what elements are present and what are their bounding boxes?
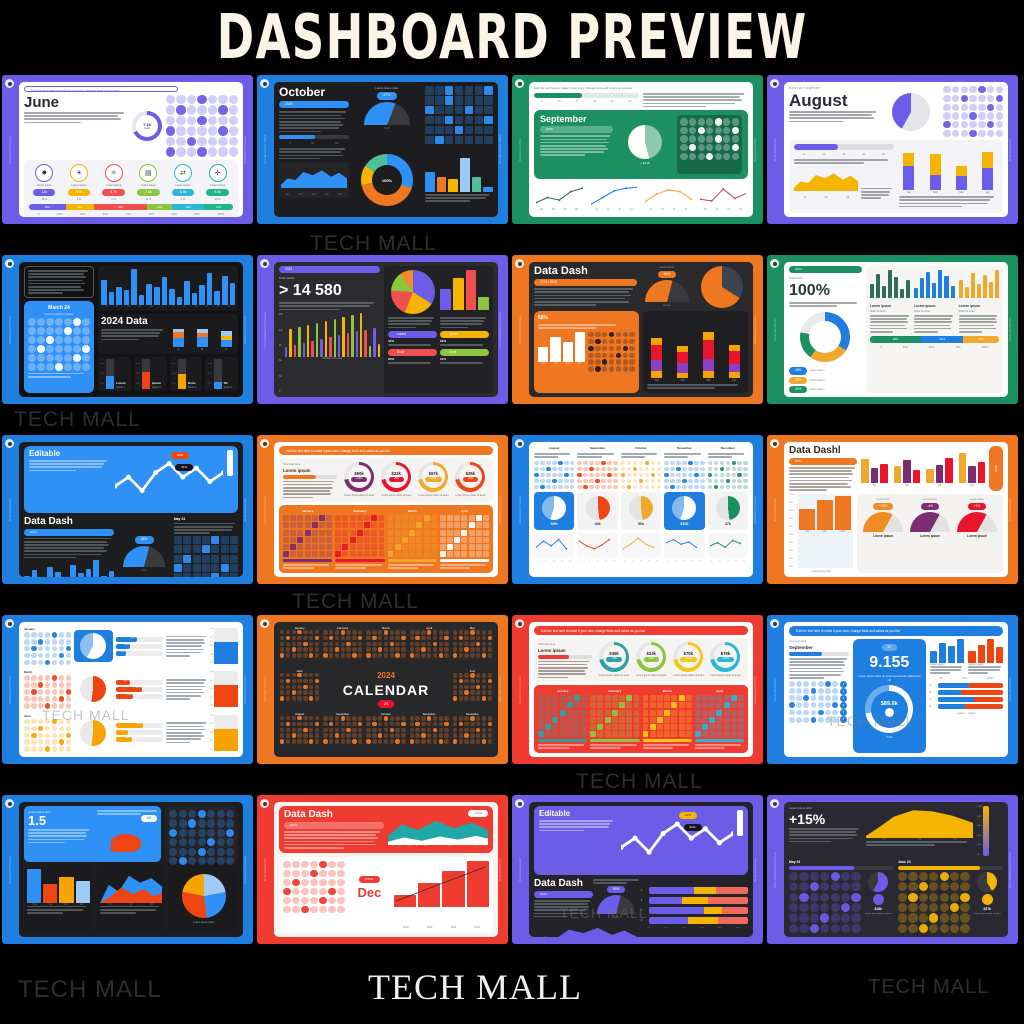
- calendar-day[interactable]: [558, 467, 563, 472]
- calendar-day[interactable]: [183, 573, 191, 577]
- calendar-day[interactable]: [352, 653, 357, 658]
- value-1-5-dark[interactable]: Dashboard PreviewDashboard PreviewLorem …: [2, 795, 253, 944]
- calendar-day[interactable]: [831, 893, 840, 902]
- calendar-day[interactable]: [689, 127, 696, 134]
- calendar-day[interactable]: [470, 733, 475, 738]
- calendar-day[interactable]: [166, 126, 175, 135]
- calendar-day[interactable]: [187, 147, 196, 156]
- calendar-day[interactable]: [440, 522, 446, 528]
- calendar-day[interactable]: [64, 345, 72, 353]
- calendar-day[interactable]: [431, 522, 437, 528]
- calendar-day[interactable]: [401, 636, 406, 641]
- calendar-day[interactable]: [309, 630, 313, 634]
- calendar-day[interactable]: [415, 739, 420, 744]
- calendar-day[interactable]: [680, 135, 687, 142]
- calendar-day[interactable]: [290, 530, 296, 536]
- calendar-day[interactable]: [342, 522, 348, 528]
- calendar-day[interactable]: [626, 731, 632, 737]
- calendar-day[interactable]: [37, 345, 45, 353]
- calendar-day[interactable]: [366, 647, 371, 652]
- calendar-day[interactable]: [590, 695, 596, 701]
- calendar-day[interactable]: [601, 479, 606, 484]
- calendar-day[interactable]: [292, 861, 300, 869]
- calendar-day[interactable]: [545, 731, 551, 737]
- calendar-day[interactable]: [45, 719, 51, 725]
- calendar-day[interactable]: [623, 353, 629, 359]
- calendar-day[interactable]: [789, 717, 795, 723]
- calendar-day[interactable]: [297, 515, 303, 521]
- calendar-day[interactable]: [401, 722, 406, 727]
- calendar-day[interactable]: [796, 702, 802, 708]
- calendar-day[interactable]: [726, 479, 731, 484]
- calendar-day[interactable]: [301, 861, 309, 869]
- calendar-day[interactable]: [453, 733, 458, 738]
- calendar-day[interactable]: [700, 479, 705, 484]
- calendar-day[interactable]: [731, 695, 737, 701]
- calendar-day[interactable]: [961, 95, 968, 102]
- calendar-day[interactable]: [427, 642, 432, 647]
- calendar-day[interactable]: [482, 642, 487, 647]
- calendar-day[interactable]: [73, 318, 81, 326]
- calendar-day[interactable]: [978, 86, 985, 93]
- calendar-day[interactable]: [688, 467, 693, 472]
- calendar-day[interactable]: [366, 739, 371, 744]
- calendar-day[interactable]: [378, 653, 383, 658]
- calendar-day[interactable]: [602, 339, 608, 345]
- calendar-day[interactable]: [796, 717, 802, 723]
- calendar-day[interactable]: [303, 673, 307, 677]
- calendar-day[interactable]: [686, 731, 692, 737]
- calendar-day[interactable]: [633, 473, 638, 478]
- calendar-day[interactable]: [346, 739, 351, 744]
- data-dash-orange[interactable]: Dashboard PreviewDashboard PreviewData D…: [512, 255, 763, 404]
- calendar-day[interactable]: [724, 724, 730, 730]
- calendar-day[interactable]: [226, 810, 234, 818]
- calendar-day[interactable]: [372, 728, 377, 733]
- calendar-grid[interactable]: [453, 673, 492, 701]
- calendar-day[interactable]: [280, 642, 284, 646]
- calendar-day[interactable]: [464, 722, 469, 727]
- calendar-day[interactable]: [395, 522, 401, 528]
- calendar-day[interactable]: [607, 461, 612, 466]
- calendar-day[interactable]: [825, 710, 831, 716]
- calendar-day[interactable]: [315, 636, 319, 640]
- calendar-day[interactable]: [680, 118, 687, 125]
- calendar-day[interactable]: [208, 126, 217, 135]
- calendar-day[interactable]: [476, 739, 481, 744]
- calendar-day[interactable]: [732, 144, 739, 151]
- calendar-day[interactable]: [390, 728, 395, 733]
- calendar-day[interactable]: [435, 126, 444, 135]
- calendar-day[interactable]: [447, 522, 453, 528]
- calendar-day[interactable]: [410, 642, 415, 647]
- calendar-day[interactable]: [388, 551, 394, 557]
- calendar-day[interactable]: [444, 636, 449, 641]
- calendar-day[interactable]: [440, 537, 446, 543]
- badge-chip[interactable]: 24: [378, 700, 394, 708]
- calendar-day[interactable]: [831, 913, 840, 922]
- calendar-day[interactable]: [297, 716, 301, 720]
- compare-column[interactable]: November$10012345: [664, 446, 704, 573]
- calendar-day[interactable]: [453, 728, 458, 733]
- calendar-day[interactable]: [908, 893, 917, 902]
- calendar-day[interactable]: [470, 685, 475, 690]
- calendar-day[interactable]: [602, 366, 608, 372]
- calendar-day[interactable]: [803, 702, 809, 708]
- calendar-day[interactable]: [476, 653, 481, 658]
- calendar-day[interactable]: [229, 116, 238, 125]
- calendar-day[interactable]: [24, 675, 30, 681]
- badge-chip[interactable]: 32%: [789, 377, 807, 384]
- calendar-day[interactable]: [686, 717, 692, 723]
- calendar-day[interactable]: [664, 479, 669, 484]
- badge-chip[interactable]: 92%: [171, 452, 189, 459]
- calendar-day[interactable]: [45, 739, 51, 745]
- calendar-day[interactable]: [305, 551, 311, 557]
- calendar-day[interactable]: [229, 147, 238, 156]
- calendar-day[interactable]: [378, 739, 383, 744]
- calendar-day[interactable]: [45, 703, 51, 709]
- calendar-day[interactable]: [459, 653, 464, 658]
- calendar-day[interactable]: [483, 544, 489, 550]
- calendar-day[interactable]: [643, 731, 649, 737]
- calendar-day[interactable]: [198, 819, 206, 827]
- calendar-day[interactable]: [193, 545, 201, 553]
- calendar-day[interactable]: [679, 702, 685, 708]
- calendar-day[interactable]: [602, 346, 608, 352]
- calendar-day[interactable]: [445, 136, 454, 145]
- calendar-day[interactable]: [66, 689, 72, 695]
- calendar-day[interactable]: [55, 336, 63, 344]
- calendar-day[interactable]: [952, 95, 959, 102]
- calendar-day[interactable]: [427, 636, 432, 641]
- calendar-day[interactable]: [176, 147, 185, 156]
- calendar-day[interactable]: [415, 653, 420, 658]
- calendar-day[interactable]: [424, 530, 430, 536]
- calendar-day[interactable]: [358, 716, 363, 721]
- calendar-day[interactable]: [929, 893, 938, 902]
- calendar-day[interactable]: [459, 733, 464, 738]
- calendar-day[interactable]: [425, 86, 434, 95]
- calendar-day[interactable]: [319, 861, 327, 869]
- calendar-day[interactable]: [379, 551, 385, 557]
- calendar-day[interactable]: [358, 733, 363, 738]
- calendar-day[interactable]: [627, 467, 632, 472]
- calendar-day[interactable]: [616, 346, 622, 352]
- calendar-day[interactable]: [230, 545, 238, 553]
- calendar-day[interactable]: [626, 717, 632, 723]
- badge-chip[interactable]: 5.5k: [172, 189, 195, 197]
- calendar-day[interactable]: [310, 897, 318, 905]
- calendar-day[interactable]: [208, 116, 217, 125]
- calendar-day[interactable]: [31, 703, 37, 709]
- calendar-day[interactable]: [732, 135, 739, 142]
- calendar-day[interactable]: [664, 724, 670, 730]
- calendar-day[interactable]: [73, 336, 81, 344]
- calendar-day[interactable]: [319, 888, 327, 896]
- calendar-day[interactable]: [292, 696, 296, 700]
- calendar-day[interactable]: [179, 857, 187, 865]
- compare-column[interactable]: October50k12345: [621, 446, 661, 573]
- calendar-day[interactable]: [445, 96, 454, 105]
- total-14580-dashboard[interactable]: Data Dashboard PreviewData Dashboard Pre…: [257, 255, 508, 404]
- calendar-day[interactable]: [832, 702, 838, 708]
- calendar-day[interactable]: [626, 702, 632, 708]
- calendar-day[interactable]: [312, 537, 318, 543]
- calendar-day[interactable]: [229, 105, 238, 114]
- calendar-day[interactable]: [841, 903, 850, 912]
- calendar-day[interactable]: [459, 690, 464, 695]
- calendar-day[interactable]: [960, 882, 969, 891]
- calendar-day[interactable]: [743, 473, 748, 478]
- calendar-day[interactable]: [700, 485, 705, 490]
- calendar-day[interactable]: [724, 717, 730, 723]
- calendar-day[interactable]: [483, 515, 489, 521]
- calendar-day[interactable]: [309, 696, 313, 700]
- calendar-day[interactable]: [650, 702, 656, 708]
- calendar-day[interactable]: [589, 479, 594, 484]
- calendar-day[interactable]: [482, 679, 487, 684]
- calendar-day[interactable]: [595, 366, 601, 372]
- calendar-day[interactable]: [371, 530, 377, 536]
- calendar-day[interactable]: [169, 829, 177, 837]
- calendar-day[interactable]: [560, 695, 566, 701]
- calendar-day[interactable]: [657, 479, 662, 484]
- calendar-day[interactable]: [297, 537, 303, 543]
- calendar-day[interactable]: [59, 675, 65, 681]
- calendar-day[interactable]: [230, 555, 238, 563]
- calendar-day[interactable]: [455, 106, 464, 115]
- calendar-day[interactable]: [929, 924, 938, 933]
- calendar-day[interactable]: [671, 702, 677, 708]
- calendar-day[interactable]: [372, 630, 377, 635]
- calendar-day[interactable]: [851, 903, 860, 912]
- calendar-day[interactable]: [567, 710, 573, 716]
- calendar-day[interactable]: [24, 646, 30, 652]
- calendar-day[interactable]: [851, 893, 860, 902]
- calendar-day[interactable]: [459, 696, 464, 701]
- calendar-day[interactable]: [169, 819, 177, 827]
- calendar-grid[interactable]: [453, 630, 492, 658]
- calendar-day[interactable]: [221, 564, 229, 572]
- calendar-day[interactable]: [664, 467, 669, 472]
- calendar-day[interactable]: [425, 106, 434, 115]
- calendar-day[interactable]: [59, 696, 65, 702]
- calendar-day[interactable]: [831, 924, 840, 933]
- calendar-day[interactable]: [577, 473, 582, 478]
- calendar-day[interactable]: [643, 710, 649, 716]
- calendar-day[interactable]: [427, 728, 432, 733]
- calendar-day[interactable]: [453, 630, 458, 635]
- calendar-day[interactable]: [799, 872, 808, 881]
- calendar-day[interactable]: [319, 522, 325, 528]
- calendar-day[interactable]: [695, 724, 701, 730]
- calendar-day[interactable]: [825, 695, 831, 701]
- calendar-day[interactable]: [45, 689, 51, 695]
- calendar-day[interactable]: [335, 653, 340, 658]
- calendar-day[interactable]: [670, 485, 675, 490]
- calendar-day[interactable]: [447, 530, 453, 536]
- calendar-day[interactable]: [59, 703, 65, 709]
- calendar-day[interactable]: [45, 639, 51, 645]
- calendar-side-dot[interactable]: 1: [840, 681, 847, 688]
- editable-banner[interactable]: Edit the text here to make it your own, …: [789, 626, 1003, 636]
- calendar-day[interactable]: [286, 716, 290, 720]
- calendar-day[interactable]: [187, 137, 196, 146]
- calendar-day[interactable]: [45, 646, 51, 652]
- calendar-day[interactable]: [315, 630, 319, 634]
- calendar-day[interactable]: [82, 336, 90, 344]
- calendar-day[interactable]: [59, 646, 65, 652]
- calendar-day[interactable]: [908, 882, 917, 891]
- calendar-day[interactable]: [832, 688, 838, 694]
- calendar-day[interactable]: [688, 473, 693, 478]
- calendar-day[interactable]: [825, 717, 831, 723]
- calendar-day[interactable]: [309, 673, 313, 677]
- calendar-day[interactable]: [207, 810, 215, 818]
- calendar-day[interactable]: [301, 888, 309, 896]
- calendar-day[interactable]: [337, 879, 345, 887]
- calendar-day[interactable]: [695, 717, 701, 723]
- calendar-day[interactable]: [534, 467, 539, 472]
- calendar-day[interactable]: [731, 702, 737, 708]
- calendar-day[interactable]: [832, 681, 838, 687]
- calendar-day[interactable]: [301, 870, 309, 878]
- calendar-day[interactable]: [534, 479, 539, 484]
- calendar-day[interactable]: [919, 893, 928, 902]
- calendar-day[interactable]: [851, 872, 860, 881]
- calendar-day[interactable]: [372, 739, 377, 744]
- calendar-day[interactable]: [37, 327, 45, 335]
- badge-chip[interactable]: 2024: [279, 101, 349, 108]
- calendar-day[interactable]: [38, 646, 44, 652]
- calendar-day[interactable]: [52, 639, 58, 645]
- calendar-day[interactable]: [415, 728, 420, 733]
- calendar-day[interactable]: [682, 479, 687, 484]
- calendar-day[interactable]: [789, 872, 798, 881]
- calendar-day[interactable]: [28, 363, 36, 371]
- calendar-day[interactable]: [421, 728, 426, 733]
- calendar-day[interactable]: [686, 695, 692, 701]
- calendar-day[interactable]: [664, 702, 670, 708]
- calendar-day[interactable]: [346, 636, 351, 641]
- calendar-day[interactable]: [421, 642, 426, 647]
- calendar-day[interactable]: [440, 515, 446, 521]
- calendar-day[interactable]: [908, 913, 917, 922]
- badge-chip[interactable]: +12%: [468, 810, 488, 817]
- calendar-day[interactable]: [702, 710, 708, 716]
- calendar-day[interactable]: [342, 515, 348, 521]
- calendar-day[interactable]: [323, 722, 328, 727]
- calendar-day[interactable]: [621, 479, 626, 484]
- calendar-day[interactable]: [388, 515, 394, 521]
- calendar-day[interactable]: [455, 86, 464, 95]
- calendar-day[interactable]: [546, 479, 551, 484]
- calendar-day[interactable]: [309, 690, 313, 694]
- calendar-day[interactable]: [312, 515, 318, 521]
- calendar-day[interactable]: [439, 733, 444, 738]
- calendar-day[interactable]: [552, 479, 557, 484]
- calendar-day[interactable]: [378, 636, 383, 641]
- calendar-day[interactable]: [706, 153, 713, 160]
- calendar-day[interactable]: [447, 551, 453, 557]
- calendar-day[interactable]: [799, 913, 808, 922]
- badge-chip[interactable]: +21%: [425, 477, 442, 482]
- calendar-day[interactable]: [286, 685, 290, 689]
- calendar-day[interactable]: [372, 653, 377, 658]
- calendar-day[interactable]: [358, 630, 363, 635]
- calendar-day[interactable]: [364, 551, 370, 557]
- calendar-day[interactable]: [433, 739, 438, 744]
- calendar-day[interactable]: [31, 739, 37, 745]
- calendar-day[interactable]: [329, 636, 334, 641]
- calendar-day[interactable]: [464, 642, 469, 647]
- calendar-day[interactable]: [738, 717, 744, 723]
- calendar-day[interactable]: [415, 647, 420, 652]
- calendar-day[interactable]: [326, 551, 332, 557]
- calendar-day[interactable]: [435, 106, 444, 115]
- calendar-day[interactable]: [589, 467, 594, 472]
- calendar-day[interactable]: [482, 685, 487, 690]
- calendar-day[interactable]: [950, 882, 959, 891]
- calendar-day[interactable]: [45, 675, 51, 681]
- calendar-day[interactable]: [810, 924, 819, 933]
- calendar-day[interactable]: [609, 353, 615, 359]
- calendar-day[interactable]: [198, 857, 206, 865]
- calendar-day[interactable]: [540, 461, 545, 466]
- calendar-day[interactable]: [623, 346, 629, 352]
- calendar-day[interactable]: [619, 695, 625, 701]
- calendar-day[interactable]: [395, 544, 401, 550]
- calendar-day[interactable]: [483, 551, 489, 557]
- calendar-day[interactable]: [283, 861, 291, 869]
- calendar-day[interactable]: [28, 345, 36, 353]
- calendar-day[interactable]: [326, 522, 332, 528]
- calendar-day[interactable]: [676, 473, 681, 478]
- calendar-day[interactable]: [564, 461, 569, 466]
- calendar-day[interactable]: [619, 724, 625, 730]
- calendar-day[interactable]: [657, 473, 662, 478]
- calendar-day[interactable]: [319, 879, 327, 887]
- calendar-day[interactable]: [329, 647, 334, 652]
- calendar-day[interactable]: [688, 485, 693, 490]
- calendar-day[interactable]: [292, 739, 296, 743]
- calendar-day[interactable]: [444, 733, 449, 738]
- calendar-day[interactable]: [290, 544, 296, 550]
- calendar-day[interactable]: [390, 647, 395, 652]
- calendar-day[interactable]: [455, 96, 464, 105]
- calendar-grid[interactable]: [410, 716, 449, 744]
- calendar-day[interactable]: [384, 728, 389, 733]
- calendar-day[interactable]: [689, 144, 696, 151]
- calendar-day[interactable]: [702, 731, 708, 737]
- calendar-day[interactable]: [581, 702, 587, 708]
- calendar-day[interactable]: [476, 685, 481, 690]
- calendar-day[interactable]: [52, 739, 58, 745]
- calendar-day[interactable]: [577, 467, 582, 472]
- calendar-day[interactable]: [66, 639, 72, 645]
- calendar-day[interactable]: [37, 336, 45, 344]
- calendar-day[interactable]: [183, 536, 191, 544]
- calendar-day[interactable]: [218, 147, 227, 156]
- calendar-day[interactable]: [738, 710, 744, 716]
- calendar-day[interactable]: [217, 857, 225, 865]
- calendar-day[interactable]: [444, 728, 449, 733]
- calendar-day[interactable]: [919, 872, 928, 881]
- calendar-day[interactable]: [415, 716, 420, 721]
- calendar-day[interactable]: [484, 86, 493, 95]
- calendar-day[interactable]: [679, 724, 685, 730]
